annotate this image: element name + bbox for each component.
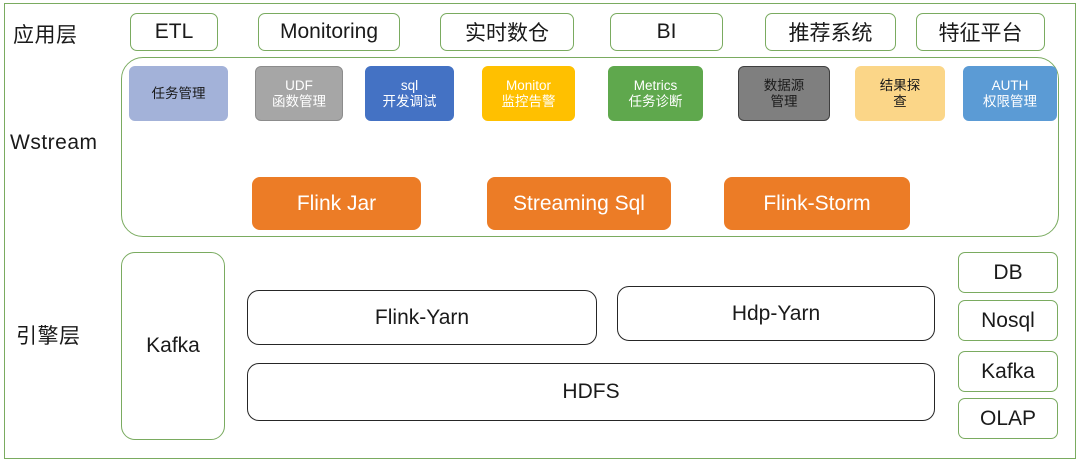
wstream-module-line1: Metrics <box>634 78 678 94</box>
wstream-module[interactable]: Monitor监控告警 <box>482 66 575 121</box>
app-layer-pill-label: 推荐系统 <box>789 17 873 47</box>
wstream-module-line2: 开发调试 <box>383 94 437 110</box>
storage-pill[interactable]: DB <box>958 252 1058 293</box>
wstream-product-label: Flink Jar <box>297 192 376 216</box>
storage-pill-label: OLAP <box>980 407 1036 431</box>
app-layer-pill[interactable]: BI <box>610 13 723 51</box>
engine-kafka-box[interactable]: Kafka <box>121 252 225 440</box>
storage-pill-label: DB <box>993 261 1022 285</box>
app-layer-pill-label: Monitoring <box>280 20 378 44</box>
engine-kafka-label: Kafka <box>146 334 200 358</box>
engine-yarn-label: Hdp-Yarn <box>732 302 820 326</box>
wstream-module-line2: 函数管理 <box>272 94 326 110</box>
wstream-module-line1: sql <box>401 78 418 94</box>
app-layer-pill[interactable]: ETL <box>130 13 218 51</box>
storage-pill-label: Nosql <box>981 309 1035 333</box>
wstream-module-line1: 结果探 <box>880 78 921 94</box>
wstream-module[interactable]: 数据源管理 <box>738 66 830 121</box>
app-layer-pill[interactable]: 特征平台 <box>916 13 1045 51</box>
app-layer-pill[interactable]: 推荐系统 <box>765 13 896 51</box>
wstream-module-line1: 数据源 <box>764 78 805 94</box>
engine-hdfs-box[interactable]: HDFS <box>247 363 935 421</box>
architecture-diagram: 应用层 Wstream 引擎层 ETLMonitoring实时数仓BI推荐系统特… <box>0 0 1080 462</box>
layer-label-engine: 引擎层 <box>16 320 81 350</box>
app-layer-pill-label: 特征平台 <box>939 17 1023 47</box>
wstream-module-line1: AUTH <box>992 78 1029 94</box>
wstream-product-box[interactable]: Flink Jar <box>252 177 421 230</box>
wstream-product-box[interactable]: Streaming Sql <box>487 177 671 230</box>
wstream-product-label: Flink-Storm <box>763 192 870 216</box>
storage-pill-label: Kafka <box>981 360 1035 384</box>
wstream-module-line2: 查 <box>893 94 907 110</box>
wstream-product-label: Streaming Sql <box>513 192 645 216</box>
layer-label-wstream: Wstream <box>10 131 98 155</box>
storage-pill[interactable]: Kafka <box>958 351 1058 392</box>
app-layer-pill[interactable]: 实时数仓 <box>440 13 574 51</box>
storage-pill[interactable]: OLAP <box>958 398 1058 439</box>
app-layer-pill-label: 实时数仓 <box>465 17 549 47</box>
engine-yarn-box[interactable]: Flink-Yarn <box>247 290 597 345</box>
wstream-module-line2: 监控告警 <box>502 94 556 110</box>
wstream-module-line1: Monitor <box>506 78 551 94</box>
engine-yarn-box[interactable]: Hdp-Yarn <box>617 286 935 341</box>
storage-pill[interactable]: Nosql <box>958 300 1058 341</box>
app-layer-pill-label: BI <box>657 20 677 44</box>
app-layer-pill[interactable]: Monitoring <box>258 13 400 51</box>
wstream-module[interactable]: sql开发调试 <box>365 66 454 121</box>
wstream-module[interactable]: AUTH权限管理 <box>963 66 1057 121</box>
wstream-module-line2: 权限管理 <box>983 94 1037 110</box>
wstream-module[interactable]: Metrics任务诊断 <box>608 66 703 121</box>
layer-label-application: 应用层 <box>13 19 78 49</box>
wstream-module-line1: 任务管理 <box>152 86 206 102</box>
engine-yarn-label: Flink-Yarn <box>375 306 469 330</box>
wstream-module[interactable]: 结果探查 <box>855 66 945 121</box>
app-layer-pill-label: ETL <box>155 20 194 44</box>
wstream-product-box[interactable]: Flink-Storm <box>724 177 910 230</box>
engine-hdfs-label: HDFS <box>562 380 619 404</box>
wstream-module-line1: UDF <box>285 78 313 94</box>
wstream-module-line2: 任务诊断 <box>629 94 683 110</box>
wstream-module[interactable]: UDF函数管理 <box>255 66 343 121</box>
wstream-module-line2: 管理 <box>771 94 798 110</box>
wstream-module[interactable]: 任务管理 <box>129 66 228 121</box>
